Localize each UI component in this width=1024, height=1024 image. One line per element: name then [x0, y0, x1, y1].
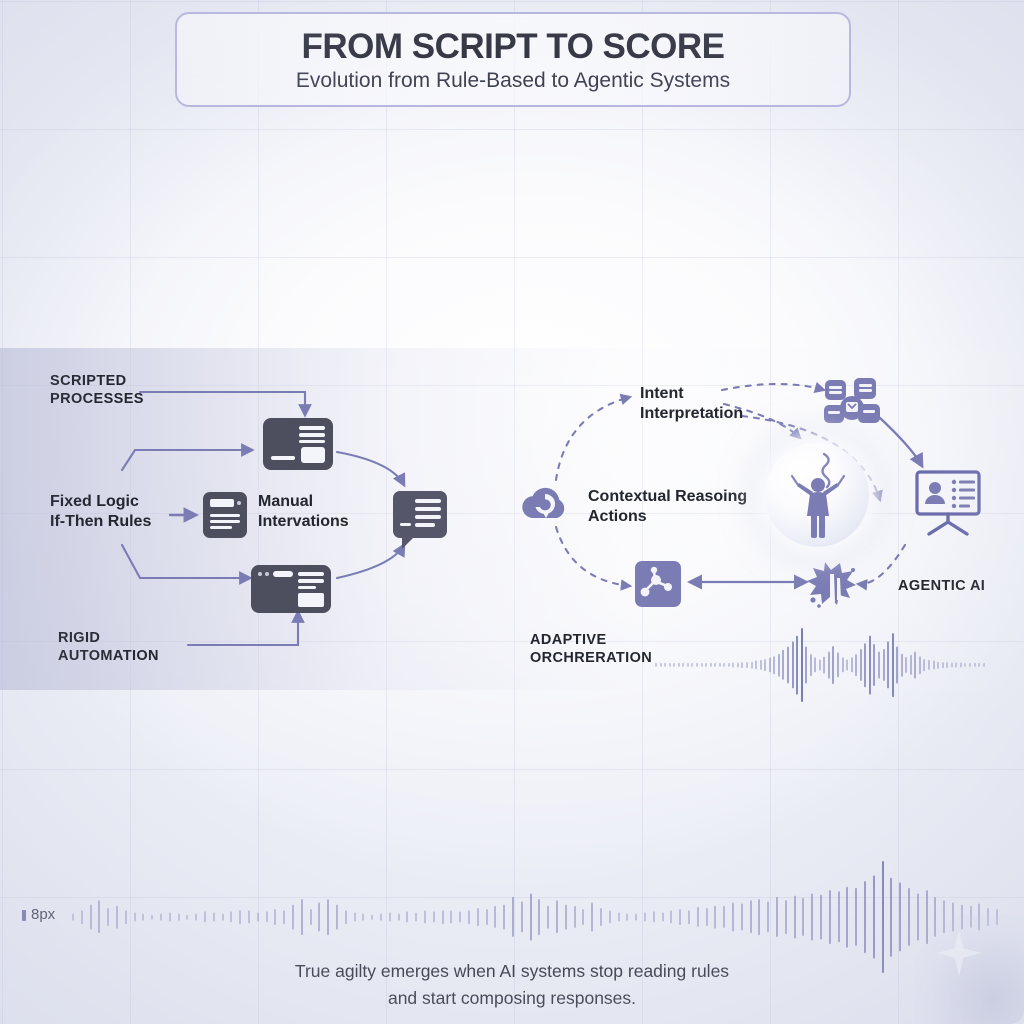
- label-adaptive-orchestration: ADAPTIVE ORCHRERATION: [530, 632, 652, 667]
- label-manual-interventions: Manual Intervations: [258, 492, 349, 531]
- label-rigid-automation: RIGID AUTOMATION: [58, 630, 159, 665]
- label-fixed-logic: Fixed Logic If-Then Rules: [50, 492, 151, 531]
- database-cluster-icon: [822, 374, 884, 430]
- header-card: FROM SCRIPT TO SCORE Evolution from Rule…: [175, 12, 851, 107]
- label-intent-interpretation: Intent Interpretation: [640, 384, 743, 423]
- scale-label: 8px: [31, 906, 55, 923]
- server-rules-icon: [203, 492, 247, 538]
- infographic-canvas: FROM SCRIPT TO SCORE Evolution from Rule…: [0, 0, 1024, 1024]
- cloud-sync-icon: [518, 478, 574, 530]
- label-agentic-ai: AGENTIC AI: [898, 578, 985, 596]
- network-graph-icon: [634, 560, 682, 608]
- conductor-figure-icon: [783, 450, 853, 542]
- presentation-board-icon: [913, 468, 983, 536]
- scale-tick-icon: [22, 910, 26, 921]
- dashboard-screen-icon: [263, 418, 333, 470]
- chat-bubble-icon: [393, 491, 447, 538]
- sparkle-icon: [936, 930, 982, 976]
- page-subtitle: Evolution from Rule-Based to Agentic Sys…: [296, 69, 730, 93]
- label-contextual-reasoning: Contextual Reasoing Actions: [588, 487, 747, 526]
- ink-splash-icon: [805, 556, 863, 612]
- label-scripted-processes: SCRIPTED PROCESSES: [50, 373, 144, 408]
- footer-caption: True agilty emerges when AI systems stop…: [0, 958, 1024, 1012]
- orchestration-waveform: [655, 625, 995, 705]
- sparkle-badge: [914, 914, 1024, 1024]
- page-title: FROM SCRIPT TO SCORE: [302, 27, 725, 67]
- browser-window-icon: [251, 565, 331, 613]
